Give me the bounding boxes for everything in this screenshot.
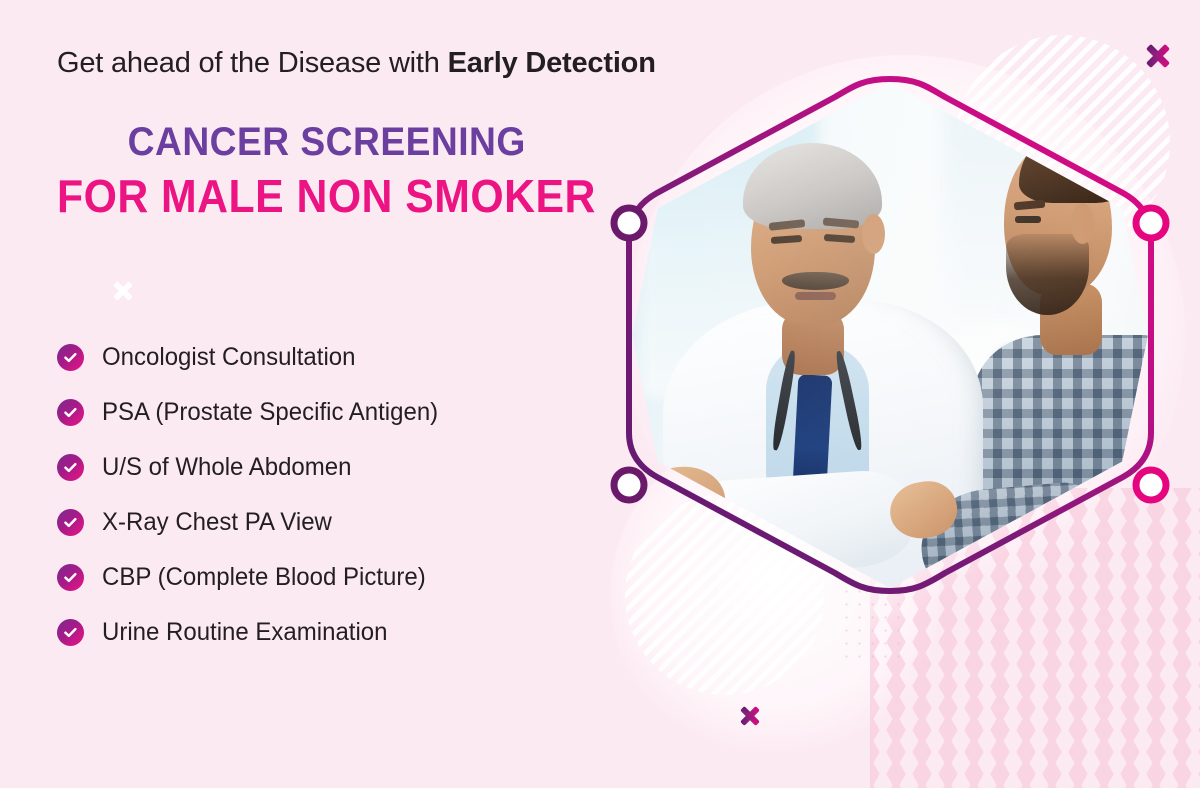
list-item: CBP (Complete Blood Picture) — [57, 550, 452, 605]
check-circle-icon — [57, 564, 84, 591]
list-item: Urine Routine Examination — [57, 605, 452, 660]
hexagon-photo-frame — [625, 75, 1155, 595]
check-circle-icon — [57, 509, 84, 536]
list-item: PSA (Prostate Specific Antigen) — [57, 385, 452, 440]
hexagon-frame-shape — [625, 75, 1155, 595]
x-mark-bottom-icon — [737, 703, 763, 729]
page-title: CANCER SCREENING FOR MALE NON SMOKER — [57, 120, 636, 222]
feature-label: Urine Routine Examination — [102, 620, 387, 645]
title-line-2: FOR MALE NON SMOKER — [57, 171, 596, 223]
title-line-1: CANCER SCREENING — [57, 120, 596, 165]
dot-grid-pattern — [840, 585, 910, 665]
node-right — [1136, 208, 1166, 238]
check-circle-icon — [57, 344, 84, 371]
eyebrow-heading: Get ahead of the Disease with Early Dete… — [57, 48, 656, 80]
check-circle-icon — [57, 399, 84, 426]
check-circle-icon — [57, 454, 84, 481]
hexagon-corner-nodes — [625, 75, 1155, 595]
eyebrow-strong: Early Detection — [448, 47, 656, 79]
feature-label: Oncologist Consultation — [102, 345, 355, 370]
feature-label: PSA (Prostate Specific Antigen) — [102, 400, 438, 425]
list-item: X-Ray Chest PA View — [57, 495, 452, 550]
feature-list: Oncologist Consultation PSA (Prostate Sp… — [57, 330, 452, 660]
check-circle-icon — [57, 619, 84, 646]
list-item: U/S of Whole Abdomen — [57, 440, 452, 495]
eyebrow-prefix: Get ahead of the Disease with — [57, 47, 448, 79]
feature-label: X-Ray Chest PA View — [102, 510, 332, 535]
feature-label: CBP (Complete Blood Picture) — [102, 565, 426, 590]
x-mark-top-right-icon — [1142, 40, 1174, 72]
promo-banner: Get ahead of the Disease with Early Dete… — [0, 0, 1200, 788]
node-bottom-right — [1136, 470, 1166, 500]
feature-label: U/S of Whole Abdomen — [102, 455, 351, 480]
content-column: Get ahead of the Disease with Early Dete… — [0, 0, 640, 788]
list-item: Oncologist Consultation — [57, 330, 452, 385]
